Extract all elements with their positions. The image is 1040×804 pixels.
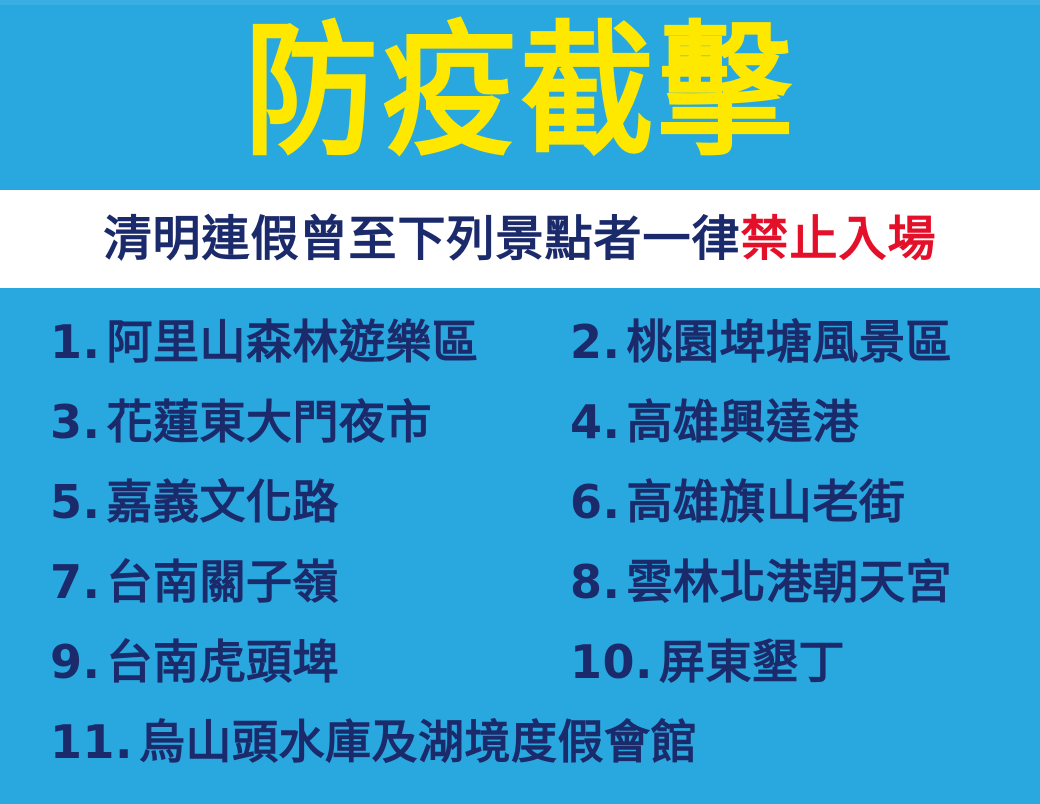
list-item-label: 嘉義文化路 [106, 475, 339, 529]
list-item-index: 11. [50, 702, 133, 782]
list-item-index: 6. [570, 462, 620, 542]
venue-list: 1.阿里山森林遊樂區 2.桃園埤塘風景區 3.花蓮東大門夜市 4.高雄興達港 5… [0, 288, 1040, 804]
list-item: 10.屏東墾丁 [555, 622, 1040, 702]
list-item: 2.桃園埤塘風景區 [555, 302, 1040, 382]
list-item-index: 8. [570, 542, 620, 622]
list-item-index: 2. [570, 302, 620, 382]
list-item-index: 5. [50, 462, 100, 542]
list-item: 1.阿里山森林遊樂區 [0, 302, 555, 382]
list-item: 3.花蓮東大門夜市 [0, 382, 555, 462]
list-item-label: 阿里山森林遊樂區 [106, 315, 478, 369]
list-item-label: 桃園埤塘風景區 [626, 315, 952, 369]
page-title: 防疫截擊 [244, 19, 796, 170]
list-item-label: 花蓮東大門夜市 [106, 395, 432, 449]
list-row: 9.台南虎頭埤 10.屏東墾丁 [0, 622, 1040, 702]
list-row: 5.嘉義文化路 6.高雄旗山老街 [0, 462, 1040, 542]
list-item-label: 台南虎頭埤 [106, 635, 339, 689]
list-item-label: 烏山頭水庫及湖境度假會館 [139, 715, 697, 769]
notice-text: 清明連假曾至下列景點者一律禁止入場 [103, 215, 936, 263]
list-item-index: 7. [50, 542, 100, 622]
poster-root: 防疫截擊 清明連假曾至下列景點者一律禁止入場 1.阿里山森林遊樂區 2.桃園埤塘… [0, 0, 1040, 804]
list-item: 9.台南虎頭埤 [0, 622, 555, 702]
list-item-index: 9. [50, 622, 100, 702]
list-item: 5.嘉義文化路 [0, 462, 555, 542]
list-item: 8.雲林北港朝天宮 [555, 542, 1040, 622]
notice-warning-text: 禁止入場 [741, 211, 937, 267]
list-item-index: 4. [570, 382, 620, 462]
list-row: 3.花蓮東大門夜市 4.高雄興達港 [0, 382, 1040, 462]
list-item-label: 高雄旗山老街 [626, 475, 905, 529]
list-item: 6.高雄旗山老街 [555, 462, 1040, 542]
notice-band: 清明連假曾至下列景點者一律禁止入場 [0, 190, 1040, 288]
list-row: 11.烏山頭水庫及湖境度假會館 [0, 702, 1040, 782]
list-item-label: 雲林北港朝天宮 [626, 555, 952, 609]
list-item-label: 高雄興達港 [626, 395, 859, 449]
list-item: 7.台南關子嶺 [0, 542, 555, 622]
top-hairline-divider [0, 0, 1040, 5]
list-item-label: 屏東墾丁 [659, 635, 845, 689]
header-band: 防疫截擊 [0, 0, 1040, 190]
list-item-index: 3. [50, 382, 100, 462]
list-item-index: 1. [50, 302, 100, 382]
list-item: 11.烏山頭水庫及湖境度假會館 [0, 702, 1040, 782]
list-item-label: 台南關子嶺 [106, 555, 339, 609]
notice-normal-text: 清明連假曾至下列景點者一律 [103, 211, 740, 267]
list-row: 1.阿里山森林遊樂區 2.桃園埤塘風景區 [0, 302, 1040, 382]
list-item: 4.高雄興達港 [555, 382, 1040, 462]
list-row: 7.台南關子嶺 8.雲林北港朝天宮 [0, 542, 1040, 622]
list-item-index: 10. [570, 622, 653, 702]
